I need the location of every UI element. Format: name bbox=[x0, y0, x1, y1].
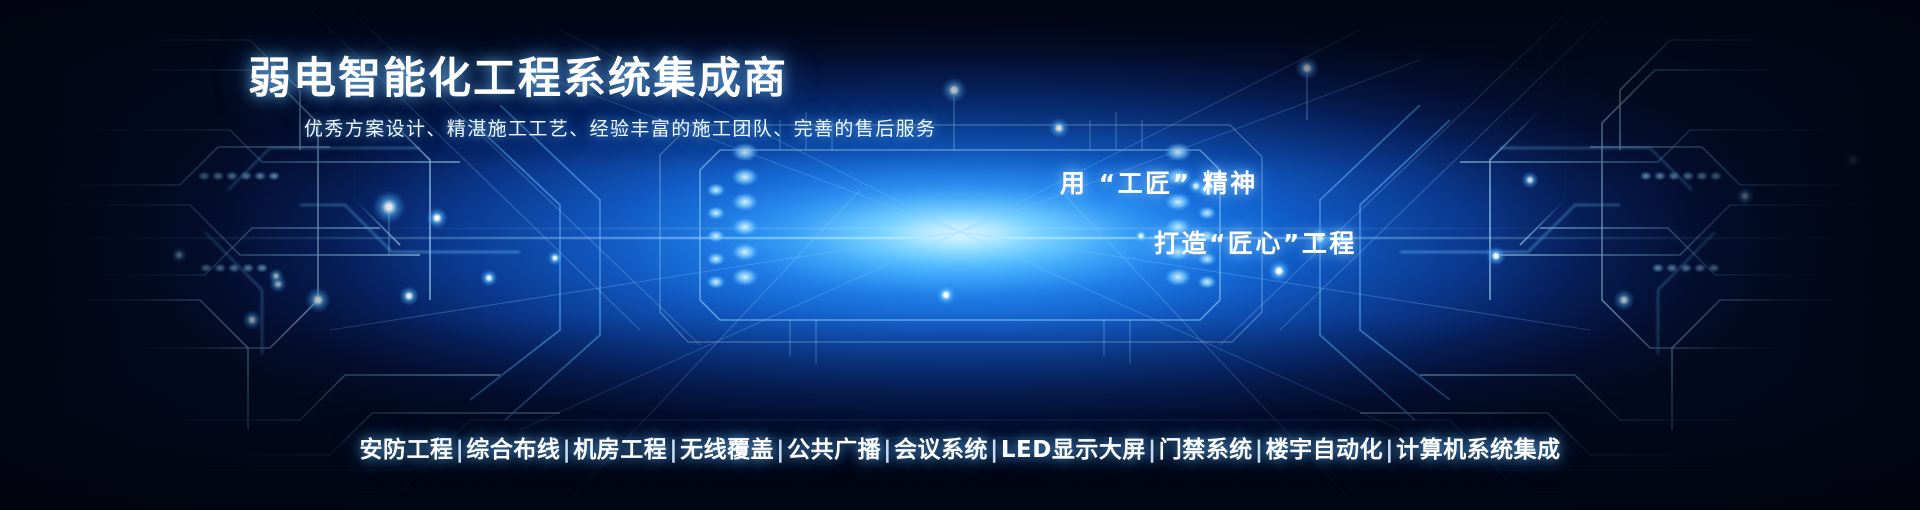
service-item[interactable]: LED显示大屏 bbox=[1001, 437, 1146, 463]
banner-content: 弱电智能化工程系统集成商 优秀方案设计、精湛施工工艺、经验丰富的施工团队、完善的… bbox=[0, 0, 1920, 510]
service-separator: | bbox=[1253, 437, 1266, 463]
service-item[interactable]: 安防工程 bbox=[359, 437, 453, 463]
service-item[interactable]: 综合布线 bbox=[466, 437, 560, 463]
service-item[interactable]: 机房工程 bbox=[573, 437, 667, 463]
service-item[interactable]: 门禁系统 bbox=[1159, 437, 1253, 463]
service-separator: | bbox=[1146, 437, 1159, 463]
slogan-line-1: 用 “工匠” 精神 bbox=[1060, 164, 1357, 200]
service-item[interactable]: 会议系统 bbox=[894, 437, 988, 463]
page-title: 弱电智能化工程系统集成商 bbox=[248, 44, 788, 106]
service-separator: | bbox=[560, 437, 573, 463]
page-subtitle: 优秀方案设计、精湛施工工艺、经验丰富的施工团队、完善的售后服务 bbox=[304, 114, 936, 141]
service-separator: | bbox=[881, 437, 894, 463]
service-list: 安防工程|综合布线|机房工程|无线覆盖|公共广播|会议系统|LED显示大屏|门禁… bbox=[0, 430, 1920, 464]
service-item[interactable]: 楼宇自动化 bbox=[1266, 437, 1384, 463]
service-separator: | bbox=[667, 437, 680, 463]
service-item[interactable]: 无线覆盖 bbox=[680, 437, 774, 463]
service-separator: | bbox=[1383, 437, 1396, 463]
slogan-line-2: 打造“匠心”工程 bbox=[1154, 224, 1357, 260]
slogan-block: 用 “工匠” 精神 打造“匠心”工程 bbox=[1060, 164, 1357, 260]
service-item[interactable]: 计算机系统集成 bbox=[1396, 437, 1561, 463]
hero-banner: 弱电智能化工程系统集成商 优秀方案设计、精湛施工工艺、经验丰富的施工团队、完善的… bbox=[0, 0, 1920, 510]
service-item[interactable]: 公共广播 bbox=[787, 437, 881, 463]
service-separator: | bbox=[453, 437, 466, 463]
service-separator: | bbox=[988, 437, 1001, 463]
service-separator: | bbox=[774, 437, 787, 463]
